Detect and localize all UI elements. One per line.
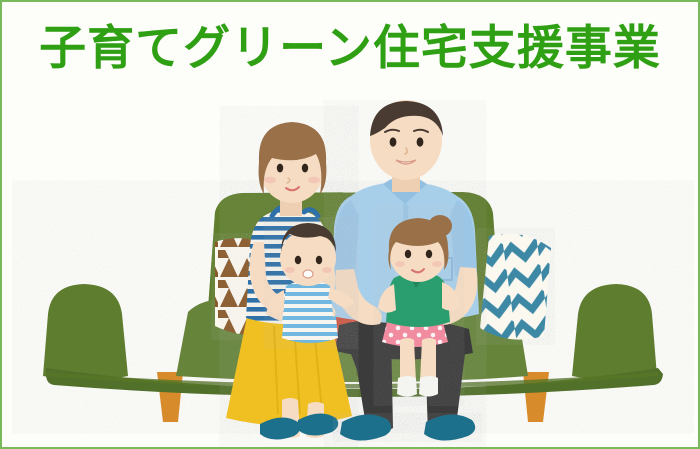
mother-blush-right [308, 177, 320, 184]
girl-sock-right [419, 376, 438, 397]
father-eye-right [417, 137, 424, 146]
family-on-sofa-illustration [2, 100, 700, 449]
mother-blush-left [264, 177, 276, 184]
mother-eye-left [277, 164, 283, 173]
mother-eye-right [302, 164, 308, 173]
girl-blush-left [395, 261, 405, 267]
girl-sock-left [397, 376, 417, 397]
cushion-right [480, 234, 551, 340]
baby-eye-right [316, 256, 322, 264]
girl-blush-right [432, 261, 442, 267]
page-title: 子育てグリーン住宅支援事業 [2, 24, 698, 73]
baby-eye-left [295, 256, 301, 264]
girl-eye-left [405, 250, 411, 258]
girl-hair-bun [428, 215, 452, 237]
baby-mouth [303, 270, 313, 278]
father-eye-left [390, 137, 397, 146]
page-title-text: 子育てグリーン住宅支援事業 [39, 24, 661, 73]
girl-eye-right [426, 250, 432, 258]
sofa-arm-right [572, 284, 657, 381]
sofa-arm-left [43, 284, 128, 381]
baby-blush-right [322, 267, 332, 273]
baby-blush-left [285, 267, 295, 273]
poster-canvas: 子育てグリーン住宅支援事業 [0, 0, 700, 449]
